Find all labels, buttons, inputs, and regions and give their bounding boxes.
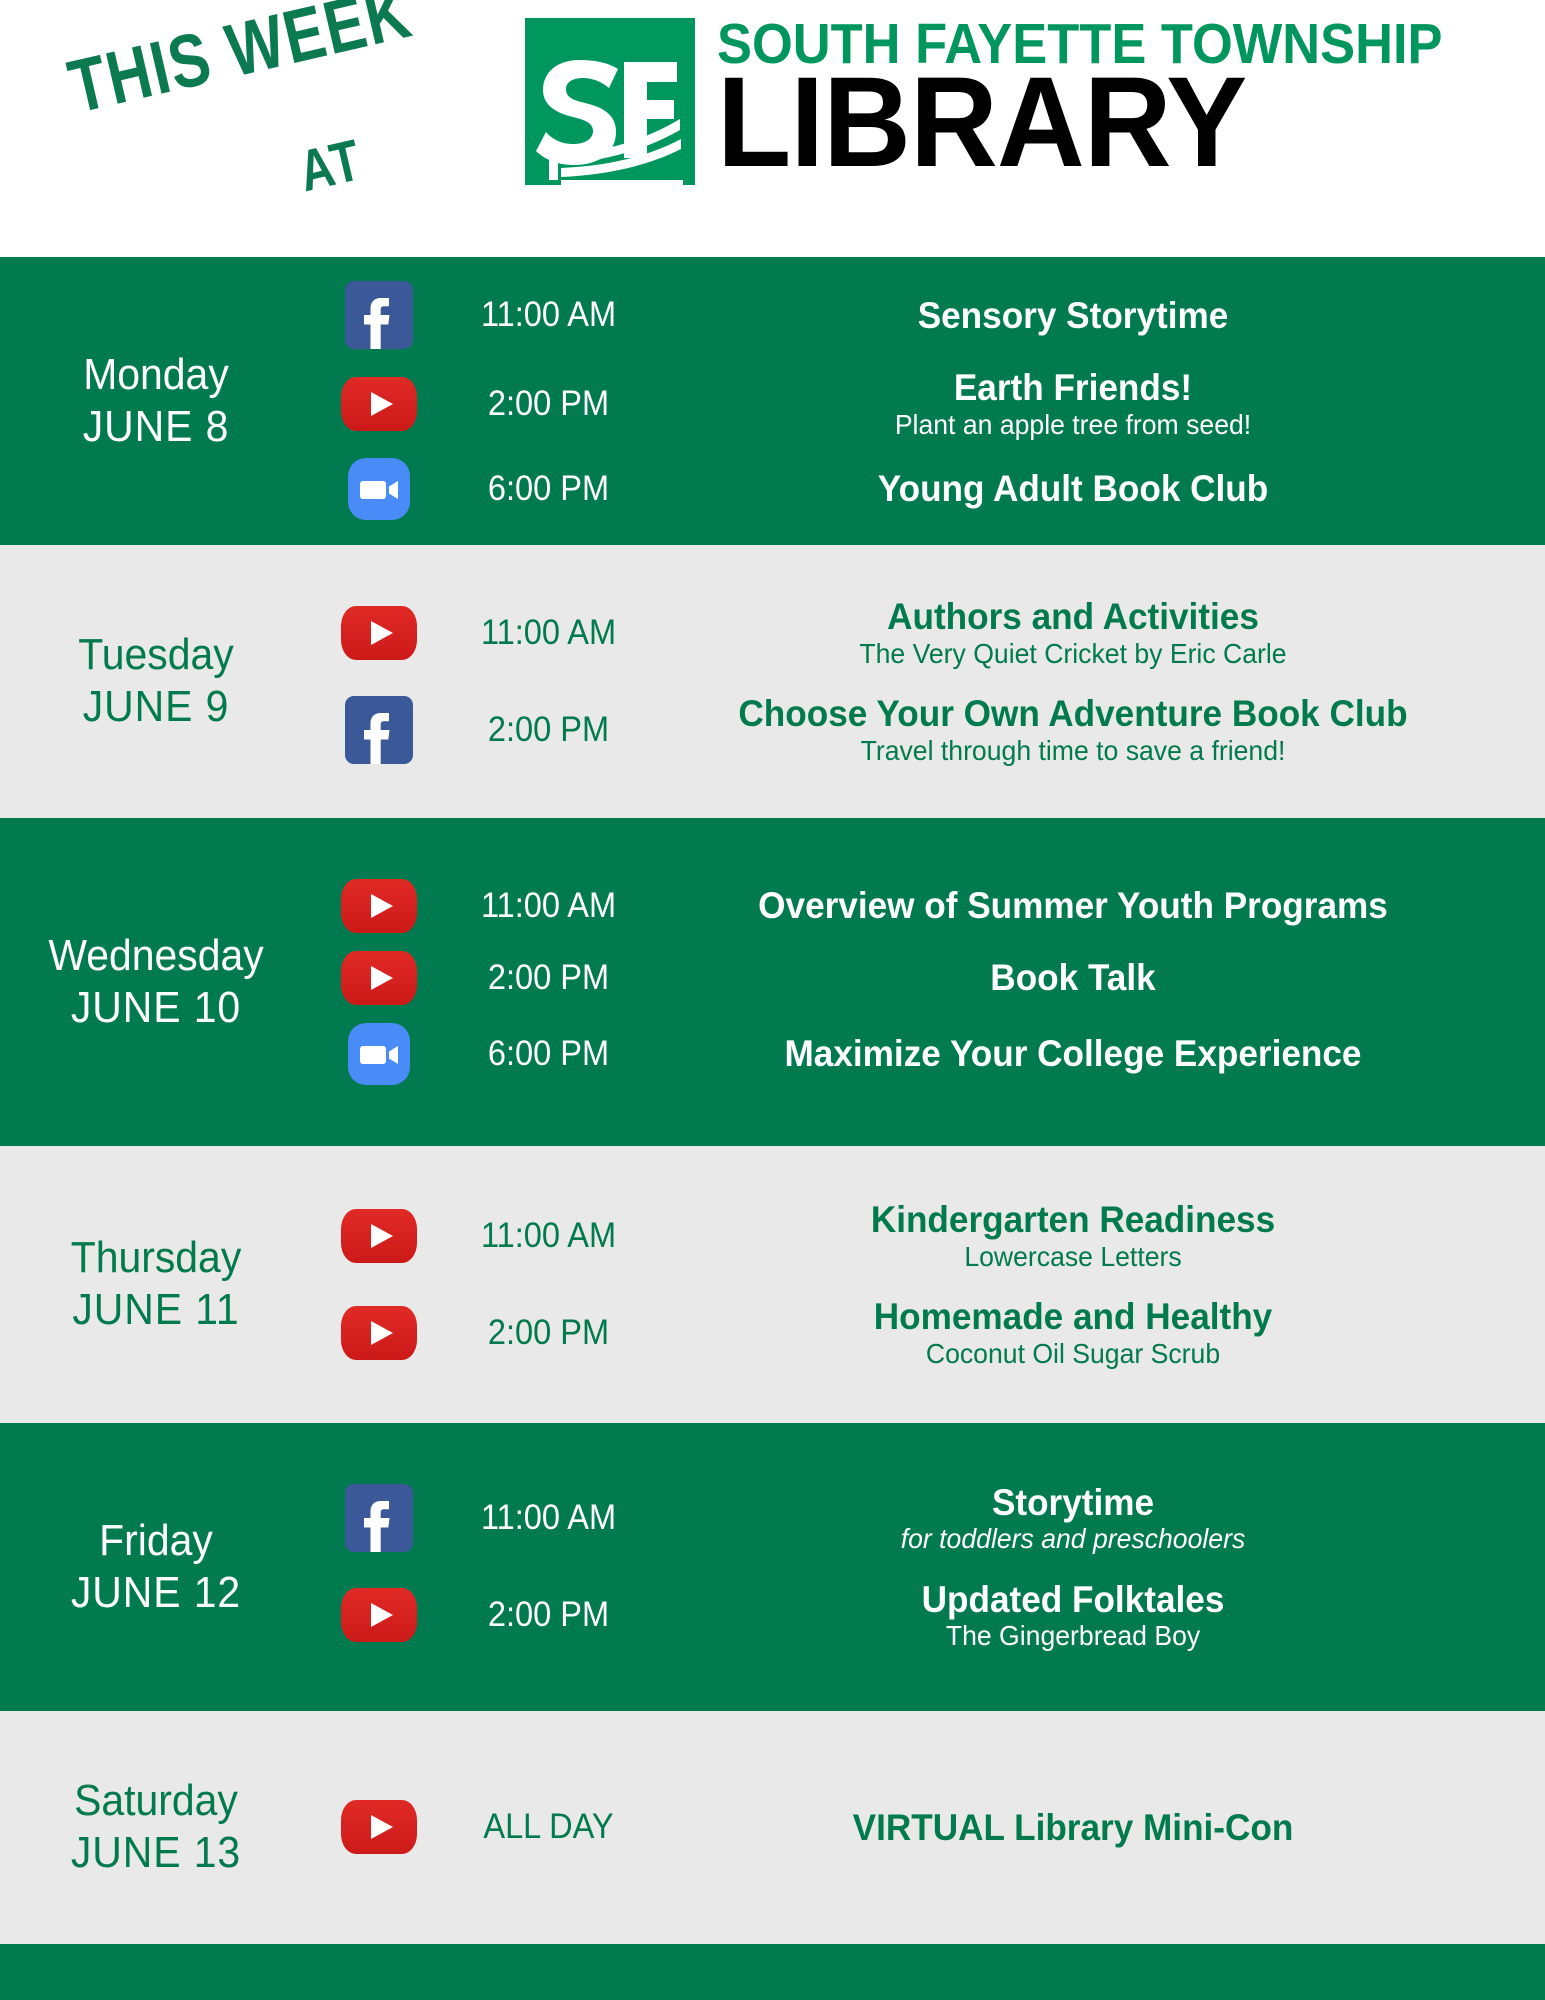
event-time: 11:00 AM	[458, 295, 639, 335]
day-band-saturday: SaturdayJUNE 13ALL DAYVIRTUAL Library Mi…	[0, 1711, 1545, 1945]
event-subtitle: Coconut Oil Sugar Scrub	[667, 1338, 1478, 1369]
event-title: Sensory Storytime	[667, 295, 1478, 336]
day-name: Saturday	[17, 1775, 296, 1827]
event-subtitle: Plant an apple tree from seed!	[667, 409, 1478, 440]
event-platform-icon-cell	[306, 606, 451, 660]
youtube-icon[interactable]	[341, 606, 417, 660]
event-platform-icon-cell	[306, 1800, 451, 1854]
youtube-icon[interactable]	[341, 1306, 417, 1360]
event-subtitle: Lowercase Letters	[667, 1241, 1478, 1272]
day-date: JUNE 10	[17, 982, 296, 1034]
facebook-icon[interactable]	[345, 281, 413, 349]
event-title: Homemade and Healthy	[667, 1296, 1478, 1337]
event-time: 11:00 AM	[458, 1498, 639, 1538]
day-date: JUNE 11	[17, 1284, 296, 1336]
day-label: SaturdayJUNE 13	[0, 1775, 306, 1879]
event-text: VIRTUAL Library Mini-Con	[646, 1807, 1545, 1848]
event-row[interactable]: 11:00 AMSensory Storytime	[306, 281, 1545, 349]
event-title: Book Talk	[667, 957, 1478, 998]
sf-logo-icon	[525, 18, 695, 185]
event-platform-icon-cell	[306, 458, 451, 520]
event-title: Updated Folktales	[667, 1579, 1478, 1620]
event-row[interactable]: 6:00 PMYoung Adult Book Club	[306, 458, 1545, 520]
event-platform-icon-cell	[306, 951, 451, 1005]
day-name: Friday	[17, 1515, 296, 1567]
day-band-friday: FridayJUNE 1211:00 AMStorytimefor toddle…	[0, 1423, 1545, 1711]
zoom-icon[interactable]	[348, 458, 410, 520]
tagline-group: THIS WEEK AT	[45, 18, 475, 228]
event-title: Authors and Activities	[667, 596, 1478, 637]
event-list: 11:00 AMOverview of Summer Youth Program…	[306, 879, 1545, 1085]
day-band-monday: MondayJUNE 811:00 AMSensory Storytime2:0…	[0, 257, 1545, 545]
event-platform-icon-cell	[306, 1588, 451, 1642]
footer-bar	[0, 1944, 1545, 2000]
event-text: Earth Friends!Plant an apple tree from s…	[646, 367, 1545, 440]
event-title: Maximize Your College Experience	[667, 1033, 1478, 1074]
event-text: Maximize Your College Experience	[646, 1033, 1545, 1074]
weekly-events-poster: THIS WEEK AT SO	[0, 0, 1545, 2000]
event-time: 2:00 PM	[458, 1595, 639, 1635]
event-title: Kindergarten Readiness	[667, 1199, 1478, 1240]
event-title: Choose Your Own Adventure Book Club	[667, 693, 1478, 734]
event-title: Storytime	[667, 1482, 1478, 1523]
event-row[interactable]: 6:00 PMMaximize Your College Experience	[306, 1023, 1545, 1085]
youtube-icon[interactable]	[341, 377, 417, 431]
youtube-icon[interactable]	[341, 1209, 417, 1263]
youtube-icon[interactable]	[341, 951, 417, 1005]
day-date: JUNE 8	[17, 401, 296, 453]
event-platform-icon-cell	[306, 879, 451, 933]
youtube-icon[interactable]	[341, 1800, 417, 1854]
facebook-icon[interactable]	[345, 696, 413, 764]
event-text: Choose Your Own Adventure Book ClubTrave…	[646, 693, 1545, 766]
event-list: ALL DAYVIRTUAL Library Mini-Con	[306, 1800, 1545, 1854]
event-row[interactable]: 11:00 AMKindergarten ReadinessLowercase …	[306, 1199, 1545, 1272]
event-row[interactable]: ALL DAYVIRTUAL Library Mini-Con	[306, 1800, 1545, 1854]
event-text: Updated FolktalesThe Gingerbread Boy	[646, 1579, 1545, 1652]
event-platform-icon-cell	[306, 1306, 451, 1360]
event-list: 11:00 AMStorytimefor toddlers and presch…	[306, 1482, 1545, 1652]
event-list: 11:00 AMSensory Storytime2:00 PMEarth Fr…	[306, 281, 1545, 520]
day-name: Tuesday	[17, 629, 296, 681]
day-date: JUNE 9	[17, 681, 296, 733]
event-time: 6:00 PM	[458, 1034, 639, 1074]
day-name: Wednesday	[17, 930, 296, 982]
day-label: FridayJUNE 12	[0, 1515, 306, 1619]
day-name: Monday	[17, 349, 296, 401]
event-row[interactable]: 2:00 PMHomemade and HealthyCoconut Oil S…	[306, 1296, 1545, 1369]
tagline-this-week: THIS WEEK	[61, 0, 419, 130]
event-text: Kindergarten ReadinessLowercase Letters	[646, 1199, 1545, 1272]
event-text: Homemade and HealthyCoconut Oil Sugar Sc…	[646, 1296, 1545, 1369]
day-label: WednesdayJUNE 10	[0, 930, 306, 1034]
day-label: ThursdayJUNE 11	[0, 1232, 306, 1336]
event-row[interactable]: 11:00 AMOverview of Summer Youth Program…	[306, 879, 1545, 933]
event-platform-icon-cell	[306, 1484, 451, 1552]
event-text: Overview of Summer Youth Programs	[646, 885, 1545, 926]
sf-logo-mark	[525, 18, 695, 185]
day-label: MondayJUNE 8	[0, 349, 306, 453]
logo-library-line: LIBRARY	[717, 64, 1466, 182]
logo-wordmark: SOUTH FAYETTE TOWNSHIP LIBRARY	[717, 18, 1506, 182]
event-title: Earth Friends!	[667, 367, 1478, 408]
library-logo: SOUTH FAYETTE TOWNSHIP LIBRARY	[525, 18, 1506, 185]
event-text: Storytimefor toddlers and preschoolers	[646, 1482, 1545, 1555]
event-row[interactable]: 2:00 PMBook Talk	[306, 951, 1545, 1005]
day-date: JUNE 12	[17, 1567, 296, 1619]
event-row[interactable]: 11:00 AMAuthors and ActivitiesThe Very Q…	[306, 596, 1545, 669]
day-label: TuesdayJUNE 9	[0, 629, 306, 733]
event-text: Young Adult Book Club	[646, 468, 1545, 509]
event-row[interactable]: 2:00 PMUpdated FolktalesThe Gingerbread …	[306, 1579, 1545, 1652]
event-list: 11:00 AMAuthors and ActivitiesThe Very Q…	[306, 596, 1545, 766]
event-time: 6:00 PM	[458, 469, 639, 509]
event-row[interactable]: 2:00 PMEarth Friends!Plant an apple tree…	[306, 367, 1545, 440]
event-platform-icon-cell	[306, 696, 451, 764]
event-platform-icon-cell	[306, 1209, 451, 1263]
event-time: 11:00 AM	[458, 886, 639, 926]
event-text: Book Talk	[646, 957, 1545, 998]
event-subtitle: The Gingerbread Boy	[667, 1620, 1478, 1651]
event-row[interactable]: 11:00 AMStorytimefor toddlers and presch…	[306, 1482, 1545, 1555]
event-title: Young Adult Book Club	[667, 468, 1478, 509]
event-row[interactable]: 2:00 PMChoose Your Own Adventure Book Cl…	[306, 693, 1545, 766]
day-date: JUNE 13	[17, 1827, 296, 1879]
event-subtitle: Travel through time to save a friend!	[667, 735, 1478, 766]
event-time: 2:00 PM	[458, 710, 639, 750]
event-platform-icon-cell	[306, 281, 451, 349]
event-time: 2:00 PM	[458, 1313, 639, 1353]
event-platform-icon-cell	[306, 1023, 451, 1085]
event-text: Authors and ActivitiesThe Very Quiet Cri…	[646, 596, 1545, 669]
event-title: VIRTUAL Library Mini-Con	[667, 1807, 1478, 1848]
event-list: 11:00 AMKindergarten ReadinessLowercase …	[306, 1199, 1545, 1369]
zoom-icon[interactable]	[348, 1023, 410, 1085]
event-time: ALL DAY	[458, 1807, 639, 1847]
day-band-tuesday: TuesdayJUNE 911:00 AMAuthors and Activit…	[0, 545, 1545, 819]
day-name: Thursday	[17, 1232, 296, 1284]
event-time: 2:00 PM	[458, 958, 639, 998]
event-time: 2:00 PM	[458, 384, 639, 424]
facebook-icon[interactable]	[345, 1484, 413, 1552]
youtube-icon[interactable]	[341, 879, 417, 933]
day-band-thursday: ThursdayJUNE 1111:00 AMKindergarten Read…	[0, 1146, 1545, 1424]
event-text: Sensory Storytime	[646, 295, 1545, 336]
youtube-icon[interactable]	[341, 1588, 417, 1642]
event-title: Overview of Summer Youth Programs	[667, 885, 1478, 926]
event-platform-icon-cell	[306, 377, 451, 431]
tagline-at: AT	[293, 126, 368, 205]
poster-header: THIS WEEK AT SO	[0, 0, 1545, 257]
event-time: 11:00 AM	[458, 613, 639, 653]
event-time: 11:00 AM	[458, 1216, 639, 1256]
event-subtitle: The Very Quiet Cricket by Eric Carle	[667, 638, 1478, 669]
event-subtitle: for toddlers and preschoolers	[667, 1523, 1478, 1554]
day-band-wednesday: WednesdayJUNE 1011:00 AMOverview of Summ…	[0, 818, 1545, 1146]
